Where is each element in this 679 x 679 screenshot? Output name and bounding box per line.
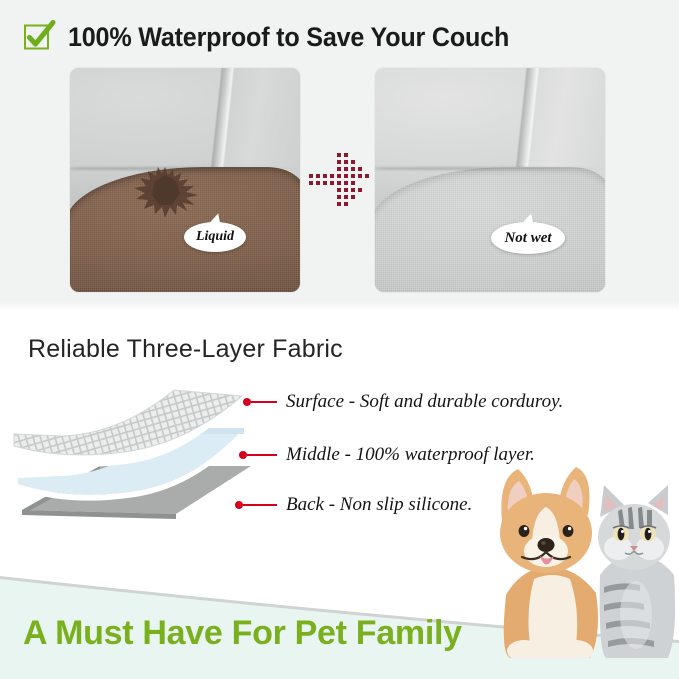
- corgi-puppy: [500, 467, 598, 658]
- dotted-right-arrow-icon: [309, 148, 375, 208]
- waterproof-section: 100% Waterproof to Save Your Couch Liqui…: [0, 0, 679, 311]
- seat-crease-shadow: [375, 167, 605, 170]
- couch-dry-after-photo: Not wet: [375, 68, 605, 292]
- banner-headline: A Must Have For Pet Family: [23, 614, 462, 653]
- grey-seat-cushion: [375, 167, 605, 292]
- couch-with-liquid-spill-photo: Liquid: [70, 68, 300, 292]
- fabric-section-title: Reliable Three-Layer Fabric: [28, 335, 343, 364]
- callout-surface: Surface - Soft and durable corduroy.: [243, 392, 563, 411]
- section-header: 100% Waterproof to Save Your Couch: [22, 20, 542, 54]
- liquid-bubble-label: Liquid: [196, 229, 234, 245]
- liquid-speech-bubble: Liquid: [184, 222, 246, 252]
- green-check-box-icon: [22, 20, 56, 54]
- three-layer-fabric-diagram: [8, 378, 258, 528]
- callout-back: Back - Non slip silicone.: [235, 495, 472, 514]
- not-wet-speech-bubble: Not wet: [491, 222, 565, 254]
- callout-label-back: Back - Non slip silicone.: [286, 495, 472, 514]
- not-wet-bubble-label: Not wet: [504, 230, 551, 247]
- product-feature-image: 100% Waterproof to Save Your Couch Liqui…: [0, 0, 679, 679]
- corgi-puppy-and-tabby-kitten-photo: [488, 455, 679, 658]
- liquid-stain-splash-icon: [132, 165, 206, 221]
- page-title: 100% Waterproof to Save Your Couch: [68, 20, 509, 54]
- tabby-kitten: [598, 485, 675, 658]
- callout-label-surface: Surface - Soft and durable corduroy.: [286, 392, 563, 411]
